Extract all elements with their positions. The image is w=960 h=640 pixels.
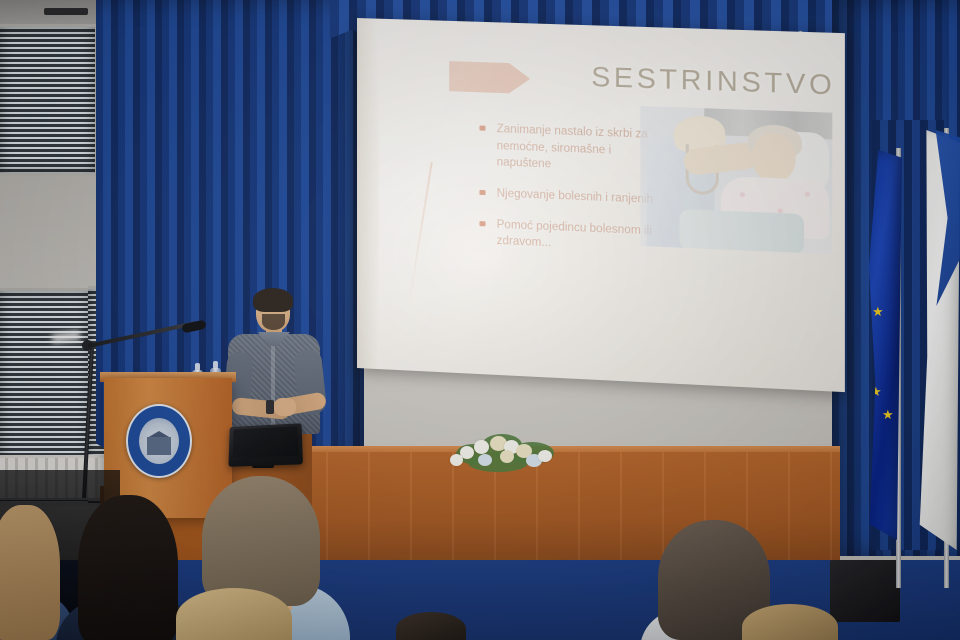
confidence-monitor — [228, 423, 303, 467]
ceiling-light-fixture — [44, 8, 88, 15]
audience-4-head — [176, 588, 292, 640]
photo-patient-head — [752, 132, 796, 183]
seal-building — [147, 437, 171, 455]
photo-blanket — [680, 209, 805, 254]
monitor-screen — [233, 426, 299, 458]
presenter-wristwatch — [266, 400, 274, 414]
slide-photo-nurse-patient — [640, 106, 832, 254]
slide-decorative-line — [407, 162, 433, 310]
loudspeaker-cabinet — [830, 560, 900, 622]
audience-2-head — [78, 495, 178, 640]
audience-7-head — [396, 612, 466, 640]
slide-title: SESTRINSTVO — [591, 61, 835, 102]
floral-arrangement — [448, 428, 566, 472]
projection-screen: SESTRINSTVO Zanimanje nastalo iz skrbi z… — [357, 18, 845, 392]
presenter-hands — [274, 398, 296, 416]
presentation-slide: SESTRINSTVO Zanimanje nastalo iz skrbi z… — [379, 19, 845, 392]
presenter-beard — [262, 314, 285, 330]
slide-arrow-shape — [449, 61, 530, 94]
audience-3-head — [202, 476, 320, 606]
university-seal-emblem — [126, 404, 192, 478]
window-blinds-upper-left — [0, 24, 98, 176]
presentation-scene: SESTRINSTVO Zanimanje nastalo iz skrbi z… — [0, 0, 960, 640]
presenter-hair — [253, 288, 293, 312]
screen-left-edge — [357, 18, 379, 369]
seal-inner-disc — [139, 418, 179, 464]
audience-1-head — [0, 505, 60, 640]
